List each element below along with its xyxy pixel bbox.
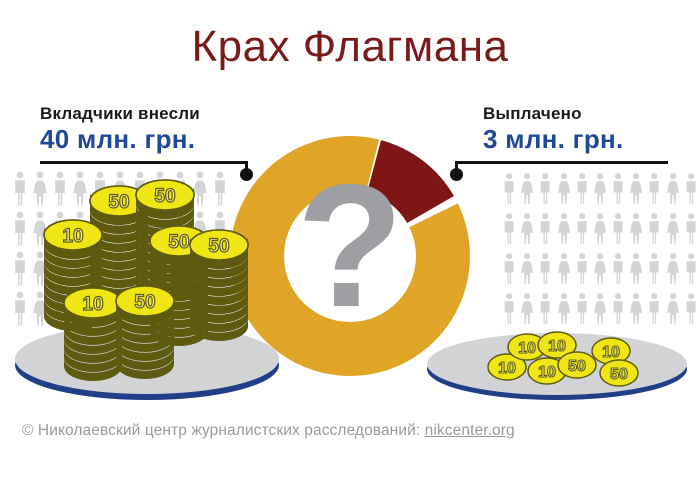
person-icon-cell (555, 288, 573, 328)
callout-label-depositors: Вкладчики внесли 40 млн. грн. (40, 104, 200, 154)
person-icon-cell (573, 248, 591, 288)
label-caption-paid: Выплачено (483, 104, 624, 124)
callout-rule-right (456, 161, 668, 164)
person-icon (664, 288, 682, 328)
person-icon (627, 248, 645, 288)
person-icon-cell (682, 208, 700, 248)
person-icon-cell (664, 288, 682, 328)
person-icon-cell (518, 168, 536, 208)
coin-denomination-label: 50 (154, 186, 175, 207)
person-icon-cell (10, 248, 30, 288)
person-icon (627, 288, 645, 328)
person-icon (645, 248, 663, 288)
coin-denomination-label: 10 (538, 364, 556, 381)
person-icon (10, 208, 30, 248)
coin-denomination-label: 50 (134, 292, 155, 313)
person-icon (500, 248, 518, 288)
person-icon-cell (664, 248, 682, 288)
person-icon-cell (573, 288, 591, 328)
person-icon (609, 168, 627, 208)
page-title: Крах Флагмана (0, 22, 700, 72)
person-icon-cell (645, 288, 663, 328)
person-icon-cell (645, 168, 663, 208)
person-icon (573, 168, 591, 208)
person-icon-cell (627, 248, 645, 288)
label-amount-depositors: 40 млн. грн. (40, 124, 200, 154)
person-icon (555, 208, 573, 248)
person-icon (591, 168, 609, 208)
person-icon-cell (573, 168, 591, 208)
person-icon-cell (536, 168, 554, 208)
person-icon (664, 168, 682, 208)
coin-denomination-label: 10 (548, 338, 566, 355)
person-icon (591, 248, 609, 288)
person-icon (536, 288, 554, 328)
person-icon (518, 288, 536, 328)
coin-denomination-label: 10 (82, 294, 103, 315)
person-icon-cell (536, 208, 554, 248)
coin-denomination-label: 10 (602, 344, 620, 361)
person-icon-cell (518, 208, 536, 248)
person-icon (591, 208, 609, 248)
person-icon-cell (555, 168, 573, 208)
coin-denomination-label: 50 (610, 366, 628, 383)
person-icon-cell (500, 208, 518, 248)
donut-slice[interactable] (367, 140, 454, 223)
person-icon-cell (500, 288, 518, 328)
person-icon (664, 248, 682, 288)
person-icon (573, 248, 591, 288)
person-icon-cell (682, 288, 700, 328)
person-icon (500, 288, 518, 328)
person-icon-cell (518, 288, 536, 328)
person-icon (682, 248, 700, 288)
person-icon (555, 248, 573, 288)
person-icon-cell (682, 248, 700, 288)
person-icon-cell (627, 168, 645, 208)
person-icon-cell (555, 248, 573, 288)
person-icon-cell (591, 248, 609, 288)
person-icon-cell (609, 208, 627, 248)
person-icon (609, 288, 627, 328)
coin-denomination-label: 10 (498, 360, 516, 377)
person-icon (645, 208, 663, 248)
people-grid-paid (500, 168, 700, 328)
callout-dot-right (450, 168, 463, 181)
person-icon (645, 288, 663, 328)
footer-credit-text: © Николаевский центр журналистских рассл… (22, 422, 425, 439)
person-icon (573, 288, 591, 328)
person-icon (10, 248, 30, 288)
coin-stacks-deposited-front: 50501050501050 (38, 178, 253, 383)
coin-denomination-label: 10 (518, 340, 536, 357)
person-icon (10, 168, 30, 208)
person-icon (518, 248, 536, 288)
footer-credit: © Николаевский центр журналистских рассл… (22, 422, 515, 440)
person-icon (536, 248, 554, 288)
person-icon-cell (609, 248, 627, 288)
person-icon-cell (664, 168, 682, 208)
person-icon (664, 208, 682, 248)
person-icon-cell (518, 248, 536, 288)
person-icon-cell (591, 288, 609, 328)
person-icon (573, 208, 591, 248)
coin-denomination-label: 10 (62, 226, 83, 247)
person-icon-cell (591, 208, 609, 248)
person-icon (591, 288, 609, 328)
infographic-canvas: Крах Флагмана 50501050501050 10101010501… (0, 0, 700, 500)
person-icon-cell (555, 208, 573, 248)
coin-denomination-label: 50 (208, 236, 229, 257)
callout-rule-left (40, 161, 248, 164)
person-icon-cell (664, 208, 682, 248)
label-caption-depositors: Вкладчики внесли (40, 104, 200, 124)
person-icon (536, 208, 554, 248)
person-icon-cell (500, 248, 518, 288)
person-icon (627, 168, 645, 208)
person-icon (609, 208, 627, 248)
person-icon (500, 208, 518, 248)
person-icon-cell (536, 248, 554, 288)
callout-label-paid: Выплачено 3 млн. грн. (483, 104, 624, 154)
loose-coins-paid: 10101010501050 (470, 330, 650, 392)
person-icon-cell (536, 288, 554, 328)
person-icon (536, 168, 554, 208)
person-icon-cell (645, 208, 663, 248)
person-icon (682, 208, 700, 248)
person-icon-cell (627, 208, 645, 248)
person-icon (682, 288, 700, 328)
person-icon (500, 168, 518, 208)
person-icon (555, 288, 573, 328)
person-icon-cell (645, 248, 663, 288)
label-amount-paid: 3 млн. грн. (483, 124, 624, 154)
person-icon-cell (609, 288, 627, 328)
coin-denomination-label: 50 (168, 232, 189, 253)
person-icon-cell (627, 288, 645, 328)
person-icon (518, 168, 536, 208)
coin-denomination-label: 50 (108, 192, 129, 213)
person-icon (682, 168, 700, 208)
person-icon-cell (609, 168, 627, 208)
footer-link-nikcenter[interactable]: nikcenter.org (425, 422, 515, 439)
person-icon (555, 168, 573, 208)
person-icon (645, 168, 663, 208)
person-icon-cell (10, 168, 30, 208)
person-icon-cell (500, 168, 518, 208)
coin-denomination-label: 50 (568, 358, 586, 375)
person-icon-cell (573, 208, 591, 248)
person-icon (518, 208, 536, 248)
person-icon-cell (10, 208, 30, 248)
person-icon (627, 208, 645, 248)
person-icon-cell (591, 168, 609, 208)
person-icon-cell (682, 168, 700, 208)
person-icon (609, 248, 627, 288)
callout-dot-left (240, 168, 253, 181)
